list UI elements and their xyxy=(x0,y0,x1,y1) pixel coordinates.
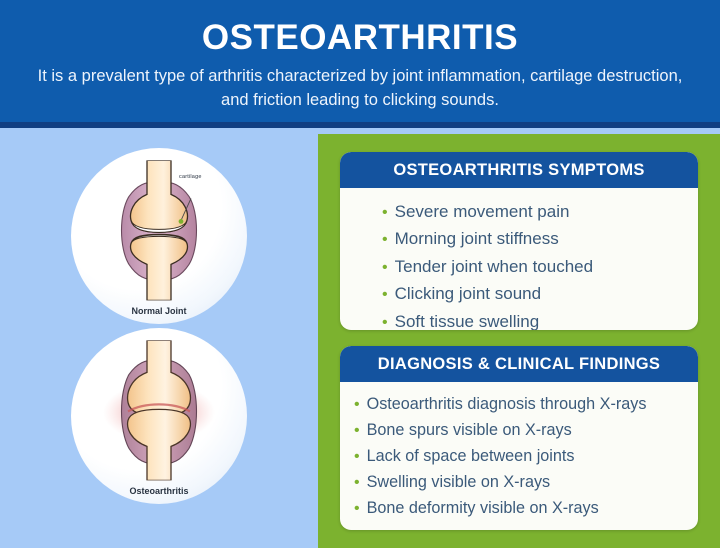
symptoms-card: OSTEOARTHRITIS SYMPTOMS • Severe movemen… xyxy=(340,152,698,330)
list-item-label: Bone deformity visible on X-rays xyxy=(367,498,599,520)
symptoms-card-body: • Severe movement pain • Morning joint s… xyxy=(340,188,698,330)
list-item: • Soft tissue swelling xyxy=(382,308,698,330)
list-item-label: Bone spurs visible on X-rays xyxy=(367,420,572,442)
normal-joint-caption: Normal Joint xyxy=(71,306,247,316)
header-banner: OSTEOARTHRITIS It is a prevalent type of… xyxy=(0,0,720,128)
osteoarthritis-joint-caption: Osteoarthritis xyxy=(71,486,247,496)
diagnosis-card-header: DIAGNOSIS & CLINICAL FINDINGS xyxy=(340,346,698,382)
diagnosis-card-body: • Osteoarthritis diagnosis through X-ray… xyxy=(340,382,698,522)
page-subtitle: It is a prevalent type of arthritis char… xyxy=(0,65,720,113)
bullet-icon: • xyxy=(382,232,388,248)
content-panel: OSTEOARTHRITIS SYMPTOMS • Severe movemen… xyxy=(318,134,720,548)
symptoms-list: • Severe movement pain • Morning joint s… xyxy=(340,198,698,330)
diagnosis-card: DIAGNOSIS & CLINICAL FINDINGS • Osteoart… xyxy=(340,346,698,530)
bullet-icon: • xyxy=(382,315,388,330)
symptoms-card-header: OSTEOARTHRITIS SYMPTOMS xyxy=(340,152,698,188)
list-item: • Clicking joint sound xyxy=(382,281,698,309)
list-item: • Lack of space between joints xyxy=(354,444,698,470)
bullet-icon: • xyxy=(354,397,360,413)
bullet-icon: • xyxy=(354,449,360,465)
diagnosis-card-title: DIAGNOSIS & CLINICAL FINDINGS xyxy=(378,355,661,374)
list-item: • Severe movement pain xyxy=(382,198,698,226)
list-item-label: Swelling visible on X-rays xyxy=(367,472,551,494)
diagnosis-list: • Osteoarthritis diagnosis through X-ray… xyxy=(340,392,698,522)
list-item: • Morning joint stiffness xyxy=(382,226,698,254)
bullet-icon: • xyxy=(382,260,388,276)
bullet-icon: • xyxy=(354,475,360,491)
osteoarthritis-joint-figure: Osteoarthritis xyxy=(71,328,247,504)
list-item: • Swelling visible on X-rays xyxy=(354,470,698,496)
osteoarthritis-infographic: OSTEOARTHRITIS It is a prevalent type of… xyxy=(0,0,720,548)
list-item: • Bone spurs visible on X-rays xyxy=(354,418,698,444)
bullet-icon: • xyxy=(354,423,360,439)
list-item: • Osteoarthritis diagnosis through X-ray… xyxy=(354,392,698,418)
cartilage-annotation-label: cartilage xyxy=(179,174,202,180)
bullet-icon: • xyxy=(382,205,388,221)
normal-joint-figure: cartilage Normal Joint xyxy=(71,148,247,324)
list-item: • Bone deformity visible on X-rays xyxy=(354,496,698,522)
osteoarthritic-knee-joint-icon xyxy=(95,340,223,480)
list-item: • Tender joint when touched xyxy=(382,253,698,281)
list-item-label: Soft tissue swelling xyxy=(395,311,540,330)
symptoms-card-title: OSTEOARTHRITIS SYMPTOMS xyxy=(393,161,644,180)
list-item-label: Osteoarthritis diagnosis through X-rays xyxy=(367,394,647,416)
bullet-icon: • xyxy=(354,501,360,517)
list-item-label: Lack of space between joints xyxy=(367,446,575,468)
list-item-label: Morning joint stiffness xyxy=(395,228,559,251)
list-item-label: Clicking joint sound xyxy=(395,283,541,306)
page-title: OSTEOARTHRITIS xyxy=(0,20,720,57)
list-item-label: Severe movement pain xyxy=(395,201,570,224)
normal-knee-joint-icon xyxy=(95,160,223,300)
bullet-icon: • xyxy=(382,287,388,303)
list-item-label: Tender joint when touched xyxy=(395,256,593,279)
illustration-column: cartilage Normal Joint xyxy=(0,134,318,548)
